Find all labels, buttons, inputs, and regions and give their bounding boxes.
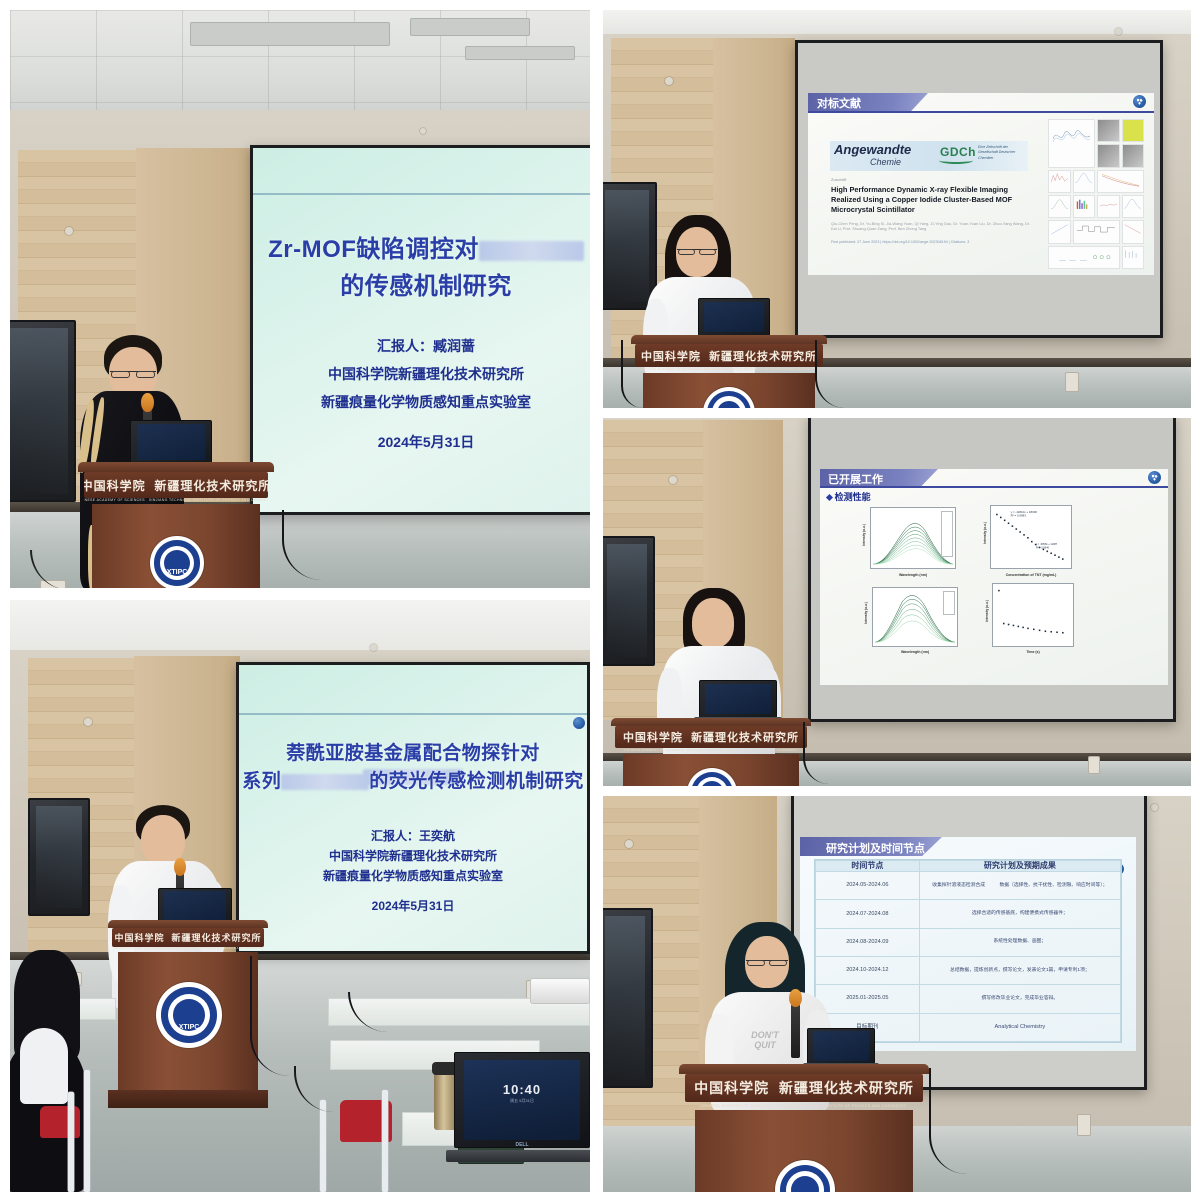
svg-text:R² = 0.9946: R² = 0.9946 (1036, 547, 1050, 550)
projector-device (530, 978, 590, 1004)
laptop-clock-sub: 周五 5月31日 (464, 1098, 579, 1104)
redaction-bar (281, 774, 369, 790)
slide-presenter: 汇报人：王奕航 (239, 827, 587, 844)
laptop-clock: 10:40 (464, 1082, 579, 1097)
slide-institute: 中国科学院新疆理化技术研究所 (239, 847, 587, 864)
photo-collage: Zr-MOF缺陷调控对 的传感机制研究 汇报人：臧润蔷 中国科学院新疆理化技术研… (0, 0, 1200, 1200)
wall-display (603, 908, 653, 1088)
slide-lab: 新疆痕量化学物质感知重点实验室 (239, 867, 587, 884)
chart-calibration-upper-right: y = -11810x + 18300 R² = 0.9983 y = -505… (990, 505, 1072, 569)
crutch (84, 1070, 90, 1192)
eyeglasses-icon (110, 371, 156, 383)
paper-title: High Performance Dynamic X-ray Flexible … (831, 185, 1031, 214)
cas-logo-icon (573, 717, 585, 729)
chart4-ylabel: Intensity (a.u.) (985, 586, 989, 636)
gdch-tagline: Eine Zeitschrift der Gesellschaft Deutsc… (978, 145, 1026, 161)
lectern-nameplate: 中国科学院 新疆理化技术研究所 (615, 726, 807, 748)
chart-emission-upper-left (870, 507, 956, 569)
photo-panel-top-left: Zr-MOF缺陷调控对 的传感机制研究 汇报人：臧润蔷 中国科学院新疆理化技术研… (10, 10, 590, 588)
microphone-icon (791, 1004, 800, 1058)
svg-text:y = -5058x + 11387: y = -5058x + 11387 (1036, 543, 1058, 546)
table-row: 2025.01-2025.05 撰写修改毕业论文，完成毕业答辩。 (816, 985, 1121, 1013)
cell-time: 2024.05-2024.06 (816, 872, 920, 900)
journal-name: Angewandte (834, 142, 911, 157)
slide-title-naphthalimide: 萘酰亚胺基金属配合物探针对 系列的荧光传感检测机制研究 汇报人：王奕航 中国科学… (239, 665, 587, 951)
emblem-label: XTIPC (156, 1024, 222, 1031)
laptop-brand: DELL (454, 1142, 590, 1148)
institute-emblem: XTIPC (156, 982, 222, 1048)
tshirt-print: DON'TQUIT (741, 1030, 789, 1060)
cell-plan: 收集探针溶液态检测合成 数据（选择性、抗干扰性、检测限、响应时间等）； (919, 872, 1120, 900)
table-row: 2024.07-2024.08 选择合适的传感基底，构建便携式传感器件； (816, 900, 1121, 928)
col-header-time: 时间节点 (816, 861, 920, 872)
lectern: 中国科学院 新疆理化技术研究所 CHINESE ACADEMY OF SCIEN… (631, 335, 827, 408)
lectern: 中国科学院 新疆理化技术研究所 CHINESE ACADEMY OF SCIEN… (78, 462, 274, 588)
chart2-xlabel: Concentration of TNT (mg/mL) (984, 573, 1078, 577)
wall-display (10, 320, 76, 502)
lectern-nameplate: 中国科学院 新疆理化技术研究所 (635, 344, 823, 367)
wall-display (603, 536, 655, 666)
slide-reference-paper: 对标文献 Angewandte Chemie GDCh Eine Zeitsch… (808, 93, 1154, 275)
eyeglasses-icon (677, 249, 717, 259)
projection-screen: 已开展工作 检测性能 (808, 418, 1176, 722)
photo-panel-top-right: 对标文献 Angewandte Chemie GDCh Eine Zeitsch… (603, 10, 1191, 408)
cas-logo-icon (1148, 471, 1161, 484)
slide-bullet: 检测性能 (827, 490, 871, 503)
cell-plan: 选择合适的传感基底，构建便携式传感器件； (919, 900, 1120, 928)
cell-plan: Analytical Chemistry (919, 1013, 1120, 1041)
slide-institute: 中国科学院新疆理化技术研究所 (253, 364, 590, 384)
emblem-label: XTIPC (150, 569, 204, 576)
chart4-xlabel: Time (s) (992, 650, 1074, 654)
wall-display (28, 798, 90, 916)
slide-title-text: Zr-MOF缺陷调控对 (268, 236, 479, 263)
lectern-cn-text: 中国科学院 新疆理化技术研究所 (84, 477, 268, 494)
slide-header-title: 对标文献 (817, 95, 861, 111)
slide-title-zrmof: Zr-MOF缺陷调控对 的传感机制研究 汇报人：臧润蔷 中国科学院新疆理化技术研… (253, 148, 590, 512)
slide-detection-performance: 已开展工作 检测性能 (820, 469, 1168, 685)
table-row: 2024.08-2024.09 系统性处理数据、画图； (816, 928, 1121, 956)
slide-date: 2024年5月31日 (239, 897, 587, 914)
paper-meta: First published: 27 June 2023 | https://… (831, 240, 1036, 244)
slide-title-text: 萘酰亚胺基金属配合物探针对 (286, 743, 540, 764)
chart-legend (941, 511, 953, 557)
paper-figure-grid (1048, 119, 1144, 269)
audience-member (20, 1028, 68, 1104)
table-row: 2024.05-2024.06 收集探针溶液态检测合成 数据（选择性、抗干扰性、… (816, 872, 1121, 900)
lectern: 中国科学院 新疆理化技术研究所 CHINESE ACADEMY OF SCIEN… (611, 718, 811, 786)
photo-panel-bottom-left: 萘酰亚胺基金属配合物探针对 系列的荧光传感检测机制研究 汇报人：王奕航 中国科学… (10, 600, 590, 1192)
crutch (320, 1100, 326, 1192)
slide-title-line1: Zr-MOF缺陷调控对 (253, 236, 590, 264)
diamond-bullet-icon (826, 494, 833, 501)
chart-emission-lower-left (872, 587, 958, 647)
table-header-row: 时间节点 研究计划及预期成果 (816, 861, 1121, 872)
slide-title-line2: 系列的荧光传感检测机制研究 (239, 771, 587, 794)
chart3-xlabel: Wavelength (nm) (872, 650, 958, 654)
photo-panel-middle-right: 已开展工作 检测性能 (603, 418, 1191, 786)
cas-logo-icon (1133, 95, 1146, 108)
crutch (68, 1092, 74, 1192)
research-plan-table: 时间节点 研究计划及预期成果 2024.05-2024.06 收集探针溶液态检测… (814, 859, 1122, 1043)
projection-screen: Zr-MOF缺陷调控对 的传感机制研究 汇报人：臧润蔷 中国科学院新疆理化技术研… (250, 145, 590, 515)
chart-kinetics-lower-right (992, 583, 1074, 647)
chair (40, 1106, 80, 1138)
slide-presenter: 汇报人：臧润蔷 (253, 336, 590, 356)
cell-plan: 总结数据，提炼创新点，撰写论文，发表论文1篇，申请专利1项； (919, 956, 1120, 984)
lectern: 中国科学院 新疆理化技术研究所 CHINESE ACADEMY OF SCIEN… (679, 1064, 929, 1192)
chart2-ylabel: Intensity (a.u.) (983, 508, 987, 558)
projection-screen: 萘酰亚胺基金属配合物探针对 系列的荧光传感检测机制研究 汇报人：王奕航 中国科学… (236, 662, 590, 954)
institute-emblem: XTIPC (150, 536, 204, 588)
chart1-xlabel: Wavelength (nm) (870, 573, 956, 577)
chart-legend (943, 591, 955, 615)
cell-plan: 撰写修改毕业论文，完成毕业答辩。 (919, 985, 1120, 1013)
paper-authors: Qiu-Chen Peng, Dr. Yu-Bing Si, Jia-Wang … (831, 221, 1031, 232)
slide-title-line2: 的传感机制研究 (253, 266, 590, 301)
slide-lab: 新疆痕量化学物质感知重点实验室 (253, 392, 590, 412)
lectern: 中国科学院 新疆理化技术研究所 CHINESE ACADEMY OF SCIEN… (108, 920, 268, 1108)
audience-laptop: 10:40 周五 5月31日 DELL (454, 1052, 590, 1162)
table-row: 2024.10-2024.12 总结数据，提炼创新点，撰写论文，发表论文1篇，申… (816, 956, 1121, 984)
svg-text:R² = 0.9983: R² = 0.9983 (1011, 514, 1027, 518)
journal-subtitle: Chemie (870, 157, 901, 167)
cell-plan: 系统性处理数据、画图； (919, 928, 1120, 956)
redaction-bar (479, 241, 584, 261)
slide-date: 2024年5月31日 (253, 432, 590, 452)
projection-screen: 对标文献 Angewandte Chemie GDCh Eine Zeitsch… (795, 40, 1163, 338)
smoke-detector-icon (65, 227, 73, 235)
crutch (382, 1090, 388, 1192)
col-header-plan: 研究计划及预期成果 (919, 861, 1120, 872)
lectern-nameplate: 中国科学院 新疆理化技术研究所 (685, 1074, 923, 1102)
slide-header-title: 研究计划及时间节点 (826, 840, 925, 856)
photo-panel-bottom-right: 研究计划及时间节点 时间节点 研究计划及预期成果 (603, 796, 1191, 1192)
slide-header-title: 已开展工作 (828, 471, 883, 487)
eyeglasses-icon (746, 960, 788, 971)
chart1-ylabel: Intensity (a.u.) (862, 510, 866, 560)
chart3-ylabel: Intensity (a.u.) (864, 588, 868, 638)
paper-kicker: Zuschrift (831, 177, 846, 182)
slide-research-plan: 研究计划及时间节点 时间节点 研究计划及预期成果 (800, 837, 1136, 1051)
